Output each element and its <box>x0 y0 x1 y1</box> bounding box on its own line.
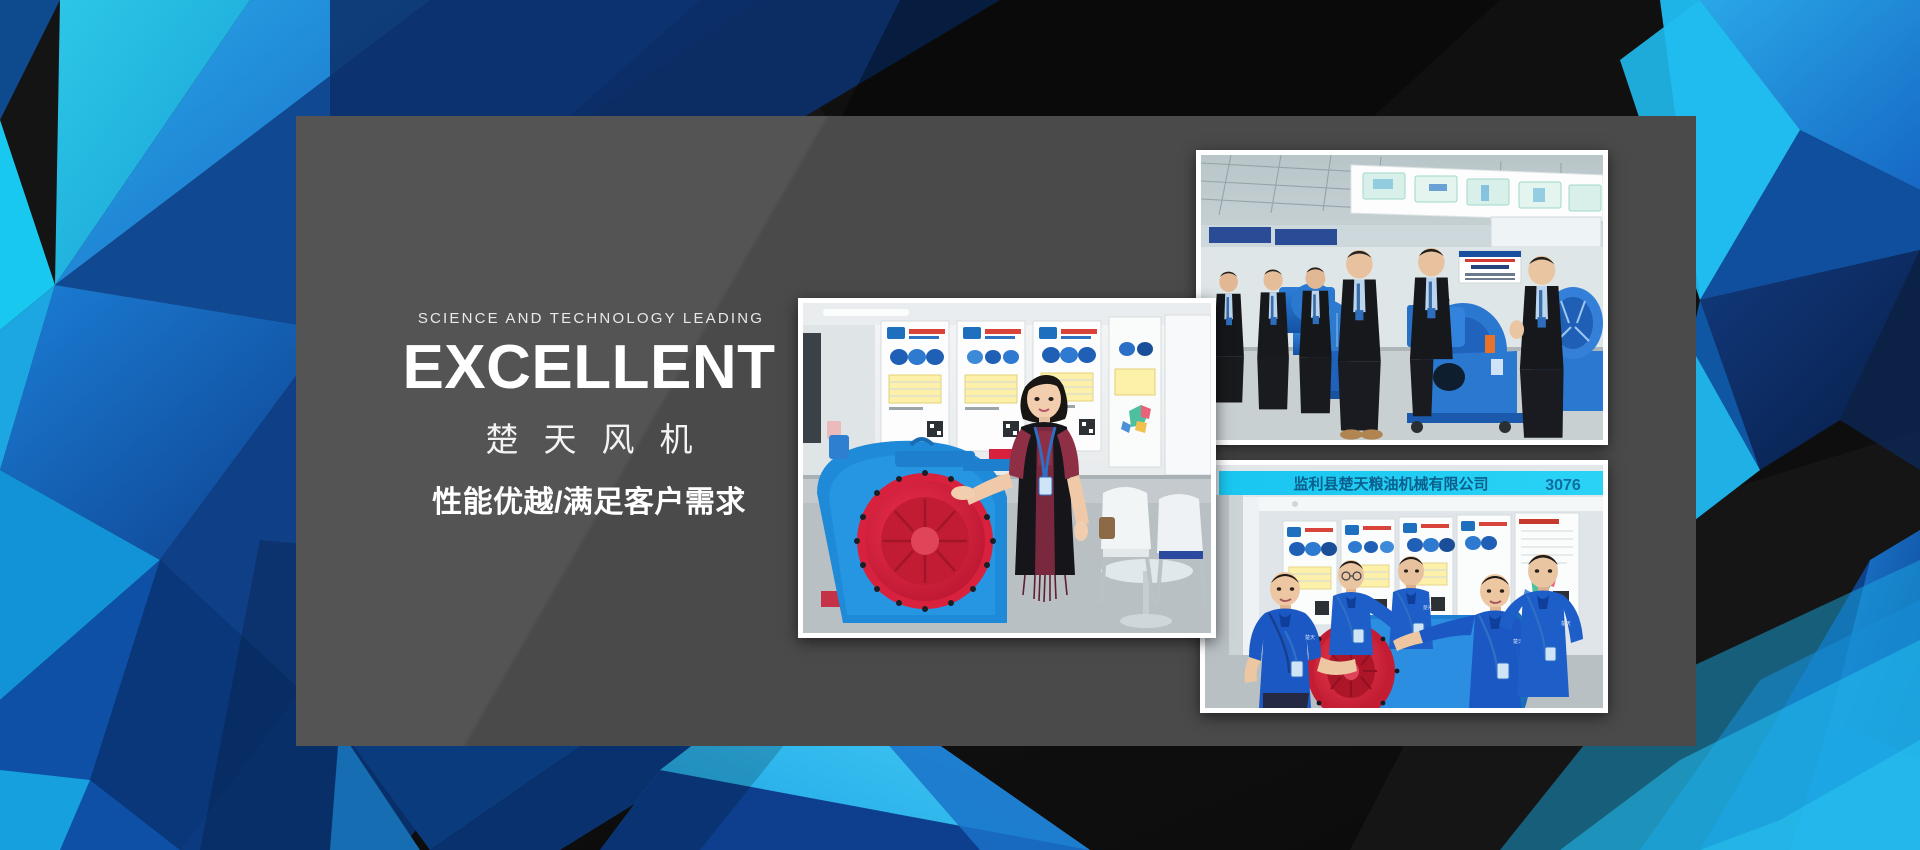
eyebrow-text: SCIENCE AND TECHNOLOGY LEADING <box>394 310 788 327</box>
brand-name-cn: 楚天风机 <box>392 413 786 461</box>
photo-frame-inner: 监利县楚天粮油机械有限公司 3076 <box>1205 465 1603 708</box>
booth-company-name: 监利县楚天粮油机械有限公司 <box>1293 475 1488 493</box>
photo-exhibition-hostess-fan <box>798 298 1216 638</box>
photo-frame-inner <box>1201 155 1603 440</box>
headline-block: SCIENCE AND TECHNOLOGY LEADING EXCELLENT… <box>392 310 812 521</box>
photo-exhibition-team-suits <box>1196 150 1608 445</box>
photo-frame-inner <box>803 303 1211 633</box>
svg-text:楚天: 楚天 <box>1561 620 1571 627</box>
svg-text:楚天: 楚天 <box>1423 604 1432 611</box>
svg-text:楚天: 楚天 <box>1305 634 1315 641</box>
photo-exhibition-team-blue-shirts: 监利县楚天粮油机械有限公司 3076 <box>1200 460 1608 713</box>
headline-text: EXCELLENT <box>392 337 786 399</box>
booth-number: 3076 <box>1545 477 1581 494</box>
tagline-text: 性能优越/满足客户需求 <box>392 477 786 521</box>
hero-banner: SCIENCE AND TECHNOLOGY LEADING EXCELLENT… <box>0 0 1920 850</box>
photo-illustration-team-blue-shirts: 监利县楚天粮油机械有限公司 3076 <box>1205 465 1603 708</box>
photo-illustration-hostess-fan <box>803 303 1211 633</box>
photo-illustration-team-suits <box>1201 155 1603 440</box>
